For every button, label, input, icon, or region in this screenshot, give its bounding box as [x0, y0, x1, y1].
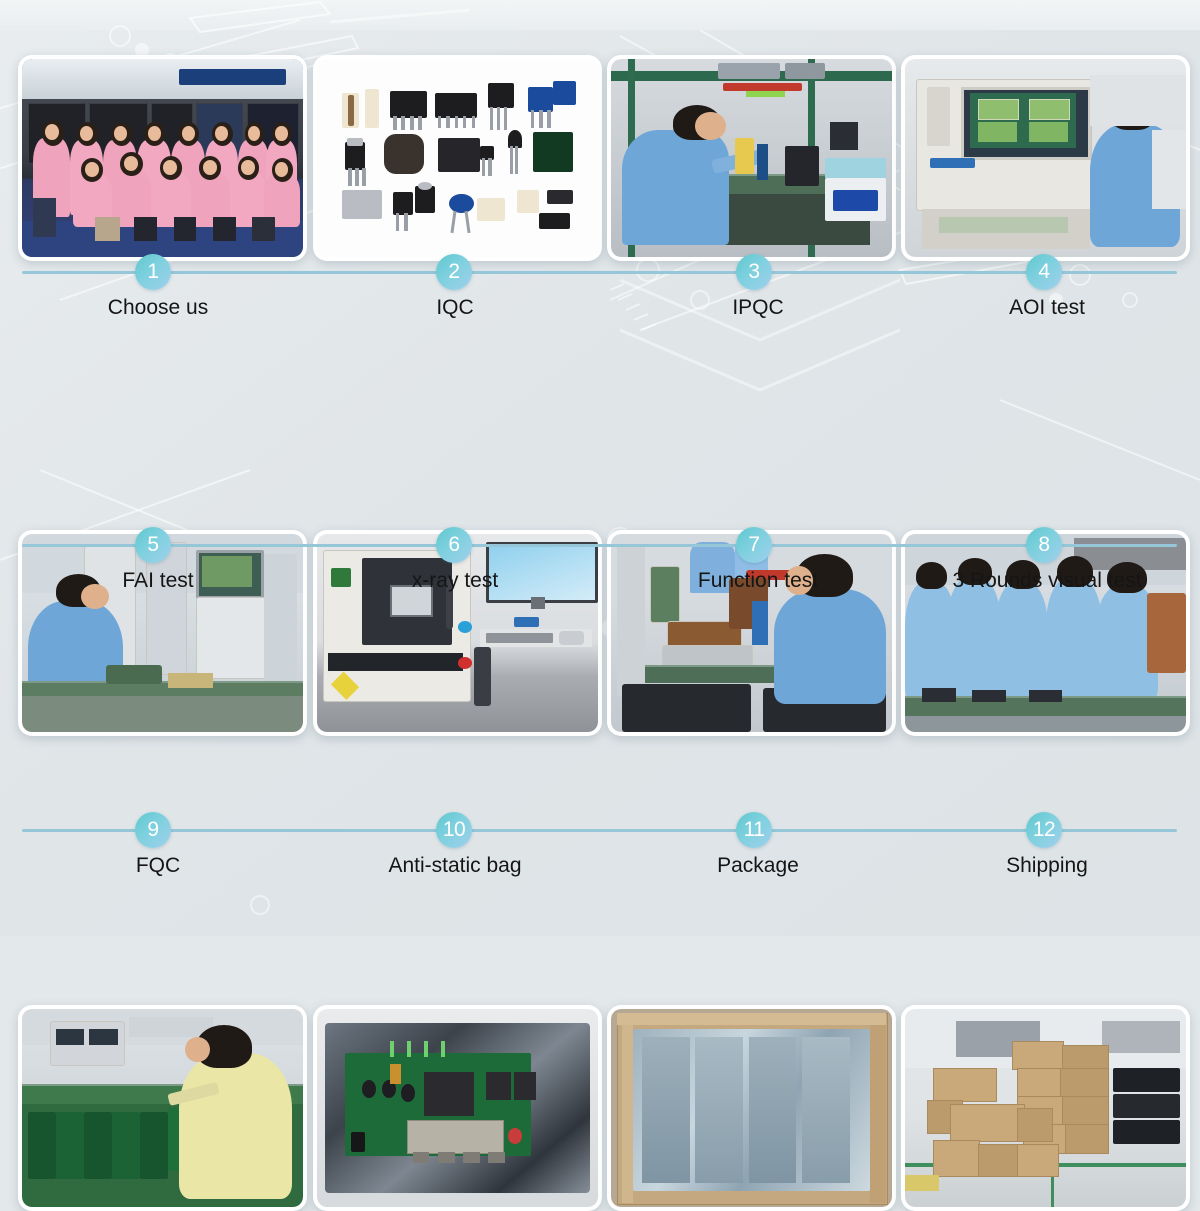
- step-axis-row-1: 1 2 3 4 Choose us IQC IPQC AOI test: [0, 254, 1200, 340]
- step-axis-row-2: 5 6 7 8 FAI test x-ray test Function tes…: [0, 527, 1200, 613]
- step-label-2: IQC: [305, 296, 605, 320]
- step-label-1: Choose us: [8, 296, 308, 320]
- step-card-9[interactable]: [18, 1005, 307, 1211]
- step-number-2: 2: [436, 254, 472, 290]
- process-flow-infographic: 1 2 3 4 Choose us IQC IPQC AOI test: [0, 0, 1200, 936]
- step-number-8: 8: [1026, 527, 1062, 563]
- step-label-3: IPQC: [608, 296, 908, 320]
- step-number-4: 4: [1026, 254, 1062, 290]
- step-photo-1: [22, 59, 303, 257]
- step-label-4: AOI test: [897, 296, 1197, 320]
- card-row-3: [0, 1005, 1200, 1205]
- step-number-12: 12: [1026, 812, 1062, 848]
- axis-line-3: [22, 829, 1177, 832]
- step-label-5: FAI test: [8, 569, 308, 593]
- step-card-12[interactable]: [901, 1005, 1190, 1211]
- step-axis-row-3: 9 10 11 12 FQC Anti-static bag Package S…: [0, 812, 1200, 898]
- step-label-10: Anti-static bag: [305, 854, 605, 878]
- step-card-11[interactable]: [607, 1005, 896, 1211]
- step-photo-4: [905, 59, 1186, 257]
- axis-line-2: [22, 544, 1177, 547]
- step-photo-11: [611, 1009, 892, 1207]
- step-card-3[interactable]: [607, 55, 896, 261]
- step-photo-3: [611, 59, 892, 257]
- axis-line-1: [22, 271, 1177, 274]
- step-photo-2: [317, 59, 598, 257]
- step-label-11: Package: [608, 854, 908, 878]
- step-card-10[interactable]: [313, 1005, 602, 1211]
- step-number-6: 6: [436, 527, 472, 563]
- step-number-7: 7: [736, 527, 772, 563]
- step-number-10: 10: [436, 812, 472, 848]
- step-label-9: FQC: [8, 854, 308, 878]
- step-number-9: 9: [135, 812, 171, 848]
- step-photo-12: [905, 1009, 1186, 1207]
- step-card-4[interactable]: [901, 55, 1190, 261]
- step-number-5: 5: [135, 527, 171, 563]
- step-label-7: Function test: [608, 569, 908, 593]
- step-photo-9: [22, 1009, 303, 1207]
- step-number-1: 1: [135, 254, 171, 290]
- card-row-1: [0, 55, 1200, 255]
- step-card-2[interactable]: [313, 55, 602, 261]
- step-photo-10: [317, 1009, 598, 1207]
- step-number-3: 3: [736, 254, 772, 290]
- step-card-1[interactable]: [18, 55, 307, 261]
- step-number-11: 11: [736, 812, 772, 848]
- step-label-8: 3 Rounds visual test: [897, 569, 1197, 593]
- step-label-12: Shipping: [897, 854, 1197, 878]
- step-label-6: x-ray test: [305, 569, 605, 593]
